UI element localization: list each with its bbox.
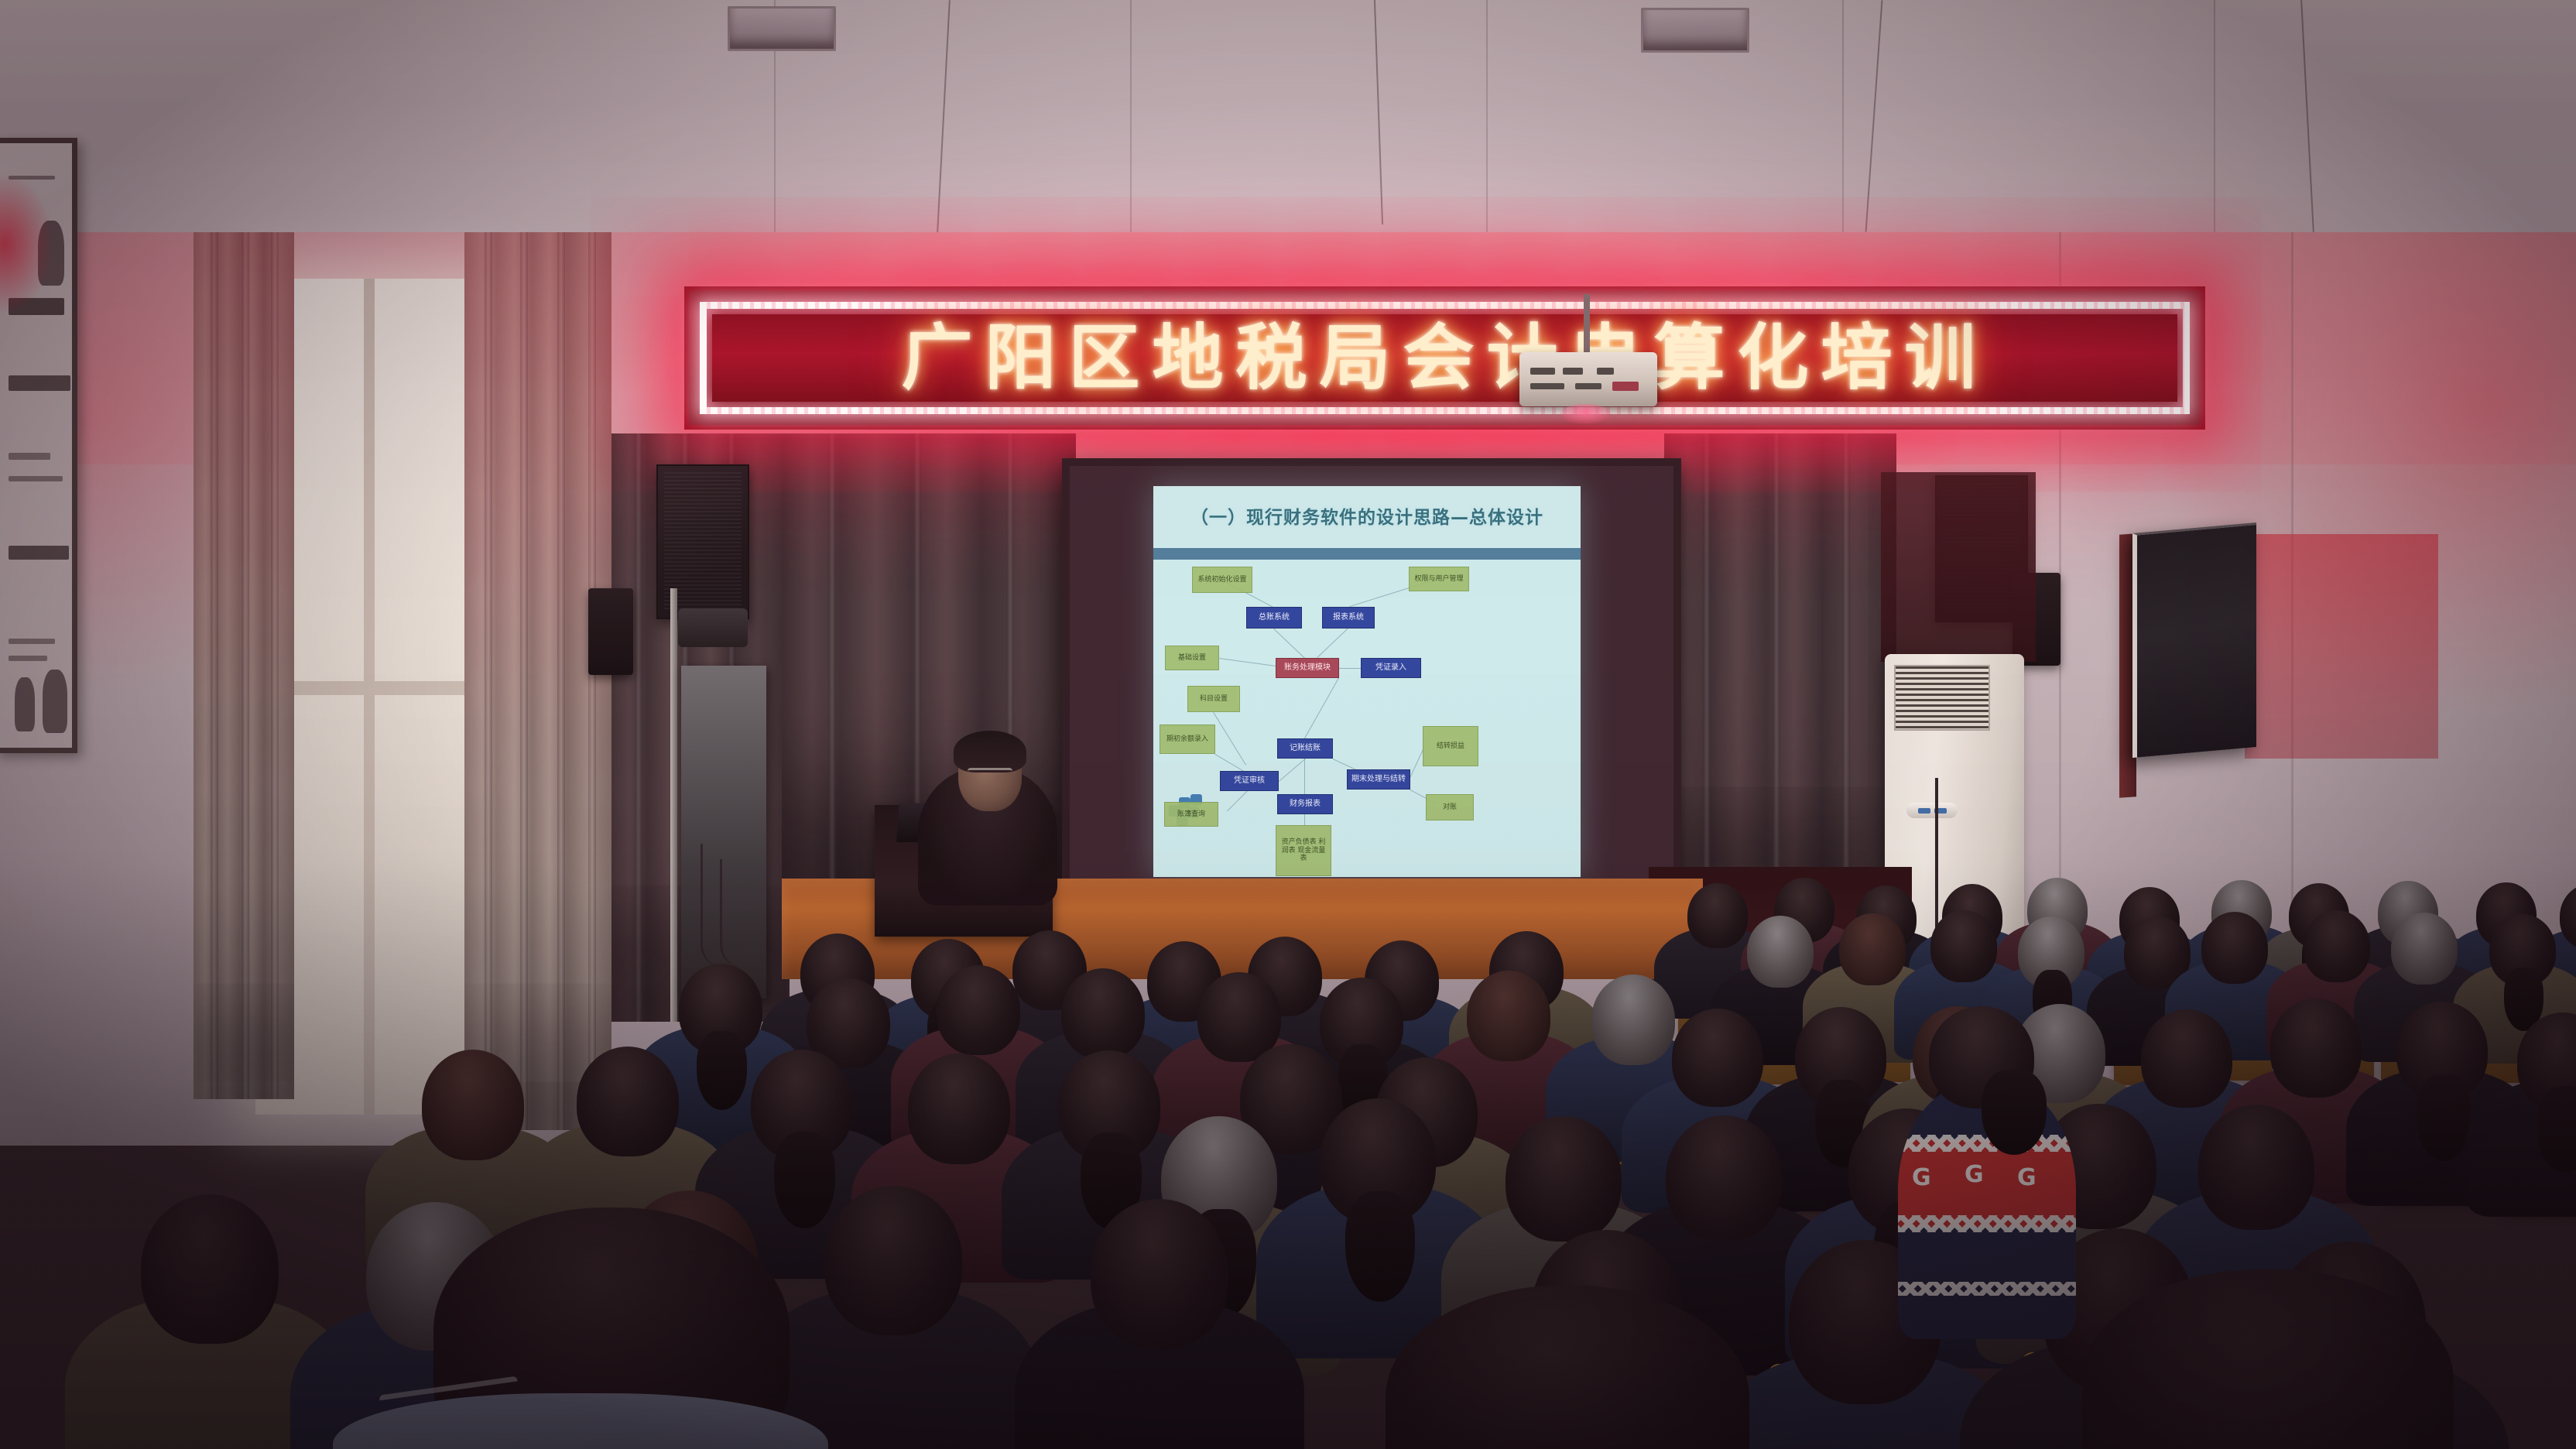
ac-vent-grill bbox=[1894, 665, 1990, 731]
flowchart-node: 基础设置 bbox=[1165, 646, 1219, 670]
led-banner: 广阳区地税局会计电算化培训 bbox=[684, 286, 2205, 430]
presenter-hair bbox=[954, 731, 1026, 772]
ceiling bbox=[0, 0, 2576, 255]
tripod-pole bbox=[670, 588, 677, 1022]
attendee-head bbox=[141, 1194, 279, 1343]
camera-head bbox=[678, 608, 748, 647]
ponytail bbox=[697, 1031, 747, 1111]
attendee-head bbox=[1747, 916, 1814, 988]
led-banner-text: 广阳区地税局会计电算化培训 bbox=[901, 323, 1988, 394]
attendee-head bbox=[1091, 1199, 1228, 1348]
window-curtain-center bbox=[464, 232, 611, 1130]
attendee-head bbox=[1687, 883, 1748, 948]
poster-red-light bbox=[0, 139, 85, 348]
ponytail bbox=[1982, 1070, 2047, 1155]
ceiling-panel-line bbox=[1486, 0, 1488, 255]
ceiling-panel-line bbox=[1130, 0, 1132, 255]
ac-upper-shadow bbox=[1881, 472, 2036, 662]
flowchart-node: 对账 bbox=[1426, 794, 1474, 820]
microphone-stand bbox=[1935, 778, 1938, 940]
ponytail bbox=[2417, 1074, 2472, 1161]
attendee-head bbox=[1839, 913, 1906, 985]
flowchart-node: 账务处理模块 bbox=[1276, 658, 1339, 678]
flowchart-edge bbox=[1219, 658, 1276, 666]
flowchart-node: 权限与用户管理 bbox=[1409, 567, 1469, 591]
flowchart-edge bbox=[1339, 668, 1361, 669]
flowchart-node: 凭证审核 bbox=[1220, 771, 1279, 791]
attendee-head bbox=[2304, 910, 2370, 982]
flowchart-edge bbox=[1304, 814, 1305, 825]
slide-title: （一）现行财务软件的设计思路—总体设计 bbox=[1190, 502, 1543, 529]
attendee-head bbox=[2198, 1105, 2314, 1230]
attendee-head bbox=[2270, 999, 2362, 1097]
attendee-head bbox=[908, 1053, 1010, 1164]
flowchart-edge bbox=[1273, 629, 1305, 659]
attendee-head bbox=[937, 965, 1020, 1056]
ceiling-panel-line bbox=[1842, 0, 1844, 255]
attendee-head bbox=[1672, 1009, 1763, 1107]
flowchart-edge bbox=[1213, 712, 1246, 766]
ceiling-light-fixture bbox=[1641, 8, 1749, 53]
slide-title-bar: （一）现行财务软件的设计思路—总体设计 bbox=[1153, 486, 1581, 545]
wall-speaker-left bbox=[588, 588, 633, 675]
ponytail bbox=[774, 1132, 835, 1228]
flowchart-node: 系统初始化设置 bbox=[1192, 567, 1252, 593]
cable bbox=[720, 859, 754, 968]
ceiling-panel-line bbox=[2214, 0, 2215, 255]
flowchart-node: 账簿查询 bbox=[1164, 802, 1218, 827]
flowchart-node: 结转损益 bbox=[1423, 726, 1478, 766]
attendee-head bbox=[1061, 968, 1145, 1059]
flowchart-edge bbox=[1279, 759, 1306, 782]
flowchart-node: 资产负债表 利润表 现金流量表 bbox=[1276, 825, 1331, 876]
projector-lens-glow bbox=[1560, 404, 1611, 424]
flowchart-node: 财务报表 bbox=[1277, 794, 1333, 814]
ceiling-light-fixture bbox=[728, 6, 836, 51]
ceiling-projector bbox=[1519, 352, 1657, 406]
attendee-head bbox=[422, 1050, 524, 1160]
slide-flowchart: 系统初始化设置权限与用户管理总账系统报表系统基础设置账务处理模块凭证录入科目设置… bbox=[1153, 562, 1581, 877]
attendee-head bbox=[2141, 1009, 2232, 1108]
window-curtain-left bbox=[194, 232, 294, 1099]
flowchart-edge bbox=[1304, 678, 1339, 738]
flowchart-edge bbox=[1227, 790, 1248, 811]
led-display-area: 广阳区地税局会计电算化培训 bbox=[712, 314, 2177, 402]
attendee-head bbox=[1506, 1116, 1622, 1242]
ac-control-panel[interactable] bbox=[1906, 803, 1958, 818]
attendee-head bbox=[2201, 912, 2268, 984]
flowchart-node: 报表系统 bbox=[1322, 607, 1375, 629]
slide-title-rule bbox=[1153, 548, 1581, 560]
flowchart-node: 期初余额录入 bbox=[1160, 724, 1215, 754]
conference-hall-photo: 广阳区地税局会计电算化培训 （一）现行财务软件的设计思路—总体设计 bbox=[0, 0, 2576, 1449]
attendee-head bbox=[1591, 975, 1675, 1065]
attendee-head bbox=[1467, 971, 1550, 1061]
attendee-head bbox=[1930, 910, 1997, 982]
flowchart-edge bbox=[1317, 628, 1348, 658]
wall-red-panel-right bbox=[2245, 534, 2438, 759]
ponytail bbox=[1345, 1191, 1415, 1302]
flowchart-node: 记账结账 bbox=[1277, 738, 1333, 759]
attendee-head bbox=[824, 1186, 962, 1334]
attendee-head bbox=[2391, 913, 2458, 985]
projected-slide: （一）现行财务软件的设计思路—总体设计 系统初始化设置权限与用户管理总账系统报表… bbox=[1153, 486, 1581, 877]
stage-curtain-right bbox=[1664, 433, 1896, 929]
window-mullion bbox=[364, 279, 375, 1115]
flowchart-node: 凭证录入 bbox=[1361, 658, 1421, 678]
attendee-head bbox=[577, 1046, 679, 1157]
presenter-glasses-icon bbox=[968, 768, 1012, 777]
flowchart-node: 总账系统 bbox=[1246, 607, 1302, 629]
wall-mounted-tv bbox=[2132, 522, 2256, 758]
attendee-head bbox=[1666, 1115, 1782, 1241]
flowchart-edge bbox=[1304, 759, 1305, 794]
flowchart-node: 科目设置 bbox=[1187, 686, 1240, 712]
projector-mount-rod bbox=[1584, 294, 1590, 356]
flowchart-node: 期末处理与结转 bbox=[1347, 769, 1410, 790]
